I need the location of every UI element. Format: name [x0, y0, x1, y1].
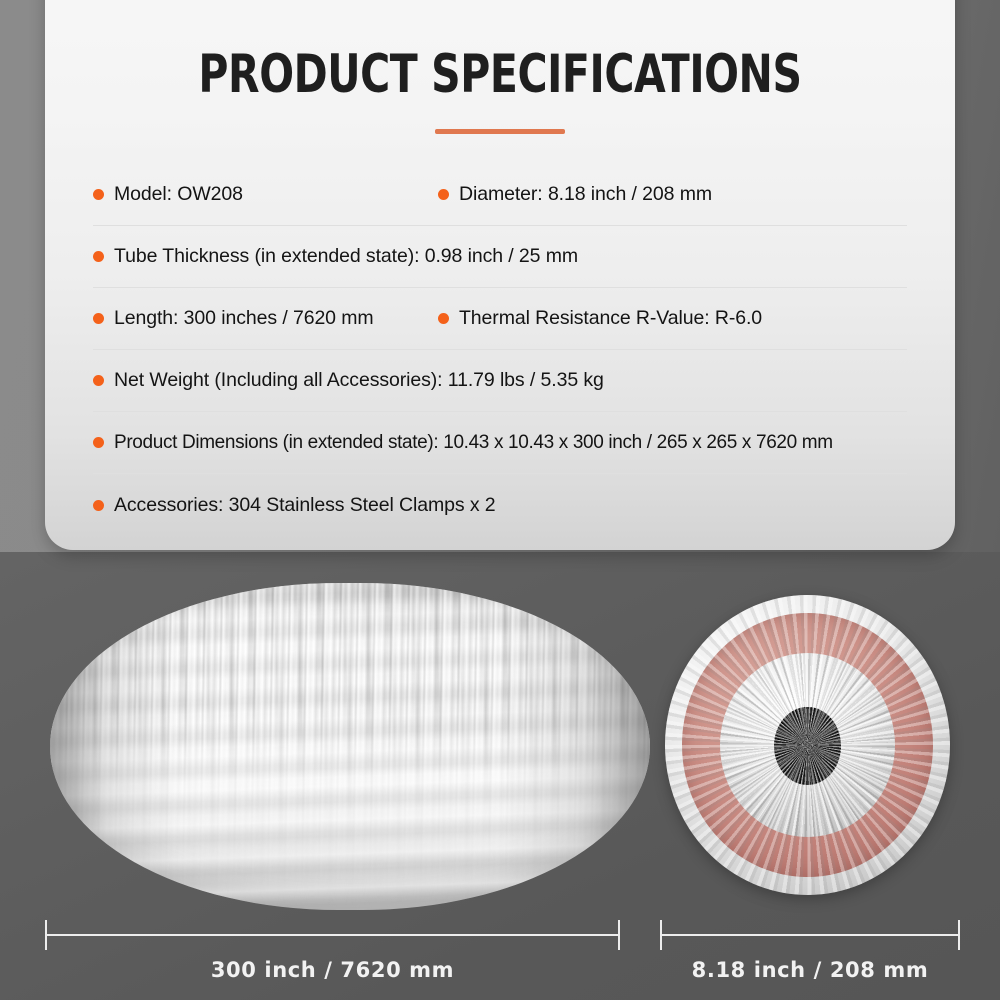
spec-label: Thermal Resistance R-Value: R-6.0	[459, 307, 762, 330]
spec-item-diameter: Diameter: 8.18 inch / 208 mm	[438, 183, 907, 206]
duct-outer-foil-jacket	[665, 595, 950, 895]
spec-label: Tube Thickness (in extended state): 0.98…	[114, 245, 578, 268]
bullet-icon	[438, 313, 449, 324]
bullet-icon	[438, 189, 449, 200]
spec-item-net-weight: Net Weight (Including all Accessories): …	[93, 369, 907, 392]
spec-label: Diameter: 8.18 inch / 208 mm	[459, 183, 712, 206]
spec-item-product-dimensions: Product Dimensions (in extended state): …	[93, 432, 907, 454]
duct-left-shading	[50, 583, 180, 910]
title-accent-rule	[435, 129, 565, 134]
dimension-diameter-label: 8.18 inch / 208 mm	[660, 958, 960, 982]
duct-cross-section-image	[665, 595, 950, 895]
page-title: PRODUCT SPECIFICATIONS	[109, 48, 892, 101]
bullet-icon	[93, 375, 104, 386]
duct-inner-foil-layer	[720, 653, 895, 837]
spec-row: Accessories: 304 Stainless Steel Clamps …	[93, 474, 907, 536]
bullet-icon	[93, 189, 104, 200]
bullet-icon	[93, 437, 104, 448]
bullet-icon	[93, 251, 104, 262]
dimension-tick-right	[958, 920, 960, 950]
spec-label: Net Weight (Including all Accessories): …	[114, 369, 604, 392]
spec-row: Length: 300 inches / 7620 mm Thermal Res…	[93, 288, 907, 350]
duct-side-view-image	[50, 583, 650, 910]
duct-inner-bore	[774, 707, 841, 785]
specification-list: Model: OW208 Diameter: 8.18 inch / 208 m…	[93, 164, 907, 536]
spec-item-r-value: Thermal Resistance R-Value: R-6.0	[438, 307, 907, 330]
spec-item-length: Length: 300 inches / 7620 mm	[93, 307, 438, 330]
duct-right-shading	[500, 583, 650, 910]
dimension-length: 300 inch / 7620 mm	[45, 920, 620, 990]
spec-item-tube-thickness: Tube Thickness (in extended state): 0.98…	[93, 245, 907, 268]
dimension-tick-left	[660, 920, 662, 950]
dimension-line	[660, 934, 960, 936]
bullet-icon	[93, 500, 104, 511]
dimension-diameter: 8.18 inch / 208 mm	[660, 920, 960, 990]
dimension-tick-right	[618, 920, 620, 950]
spec-label: Accessories: 304 Stainless Steel Clamps …	[114, 494, 496, 517]
spec-label: Model: OW208	[114, 183, 243, 206]
spec-row: Model: OW208 Diameter: 8.18 inch / 208 m…	[93, 164, 907, 226]
spec-label: Product Dimensions (in extended state): …	[114, 432, 833, 454]
dimension-length-label: 300 inch / 7620 mm	[45, 958, 620, 982]
bullet-icon	[93, 313, 104, 324]
spec-row: Product Dimensions (in extended state): …	[93, 412, 907, 474]
spec-row: Net Weight (Including all Accessories): …	[93, 350, 907, 412]
spec-item-accessories: Accessories: 304 Stainless Steel Clamps …	[93, 494, 907, 517]
dimension-tick-left	[45, 920, 47, 950]
duct-fiberglass-insulation	[682, 613, 933, 877]
spec-label: Length: 300 inches / 7620 mm	[114, 307, 374, 330]
product-specifications-card: PRODUCT SPECIFICATIONS Model: OW208 Diam…	[45, 0, 955, 550]
spec-item-model: Model: OW208	[93, 183, 438, 206]
spec-row: Tube Thickness (in extended state): 0.98…	[93, 226, 907, 288]
dimension-line	[45, 934, 620, 936]
duct-body	[50, 583, 650, 910]
